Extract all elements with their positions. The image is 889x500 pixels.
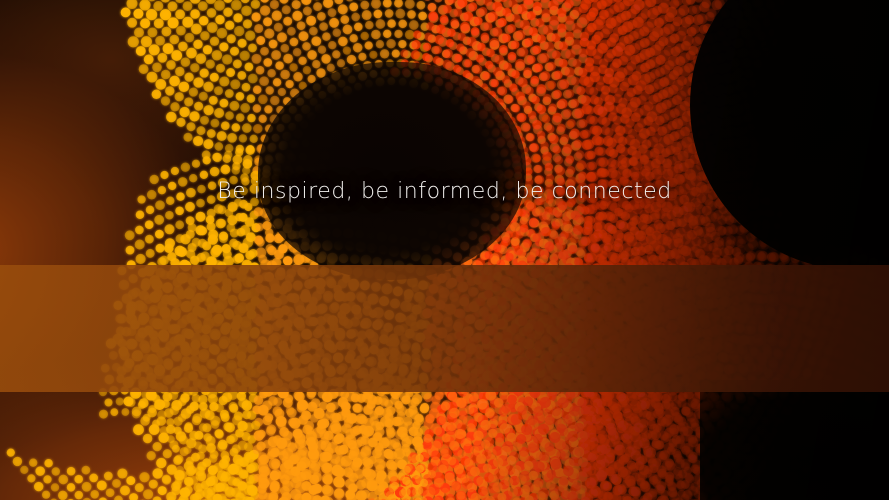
halftone-dot-field — [0, 0, 889, 500]
hero-headline: Be inspired, be informed, be connected — [0, 178, 889, 206]
translucent-band-overlay — [0, 265, 889, 392]
hero-banner: Be inspired, be informed, be connected — [0, 0, 889, 500]
